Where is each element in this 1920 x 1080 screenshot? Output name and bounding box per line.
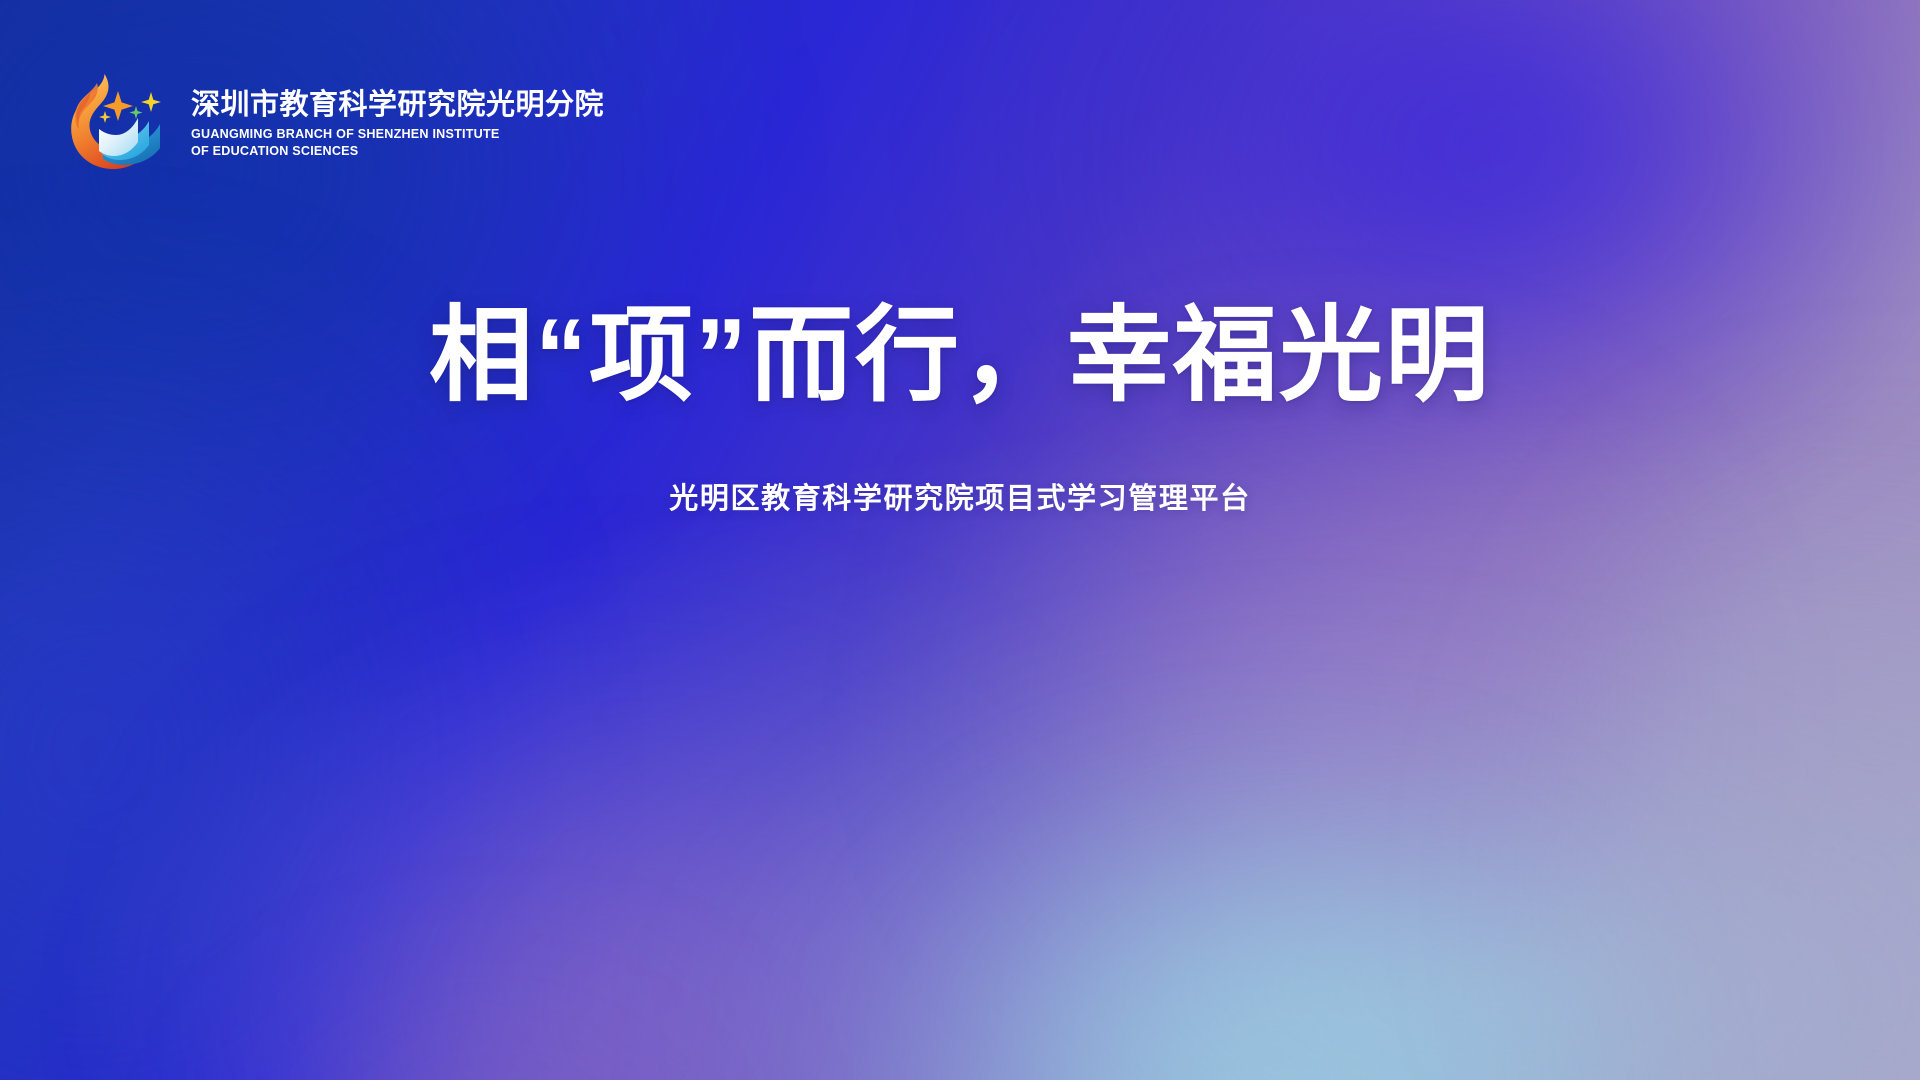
splash-screen: 深圳市教育科学研究院光明分院 GUANGMING BRANCH OF SHENZ… <box>0 0 1920 1080</box>
logo-sparkle-green-icon <box>130 106 143 119</box>
logo-sparkle-small-yellow-icon <box>99 111 111 123</box>
logo-lockup[interactable]: 深圳市教育科学研究院光明分院 GUANGMING BRANCH OF SHENZ… <box>56 66 604 178</box>
logo-org-name-en-line1: GUANGMING BRANCH OF SHENZHEN INSTITUTE <box>191 126 521 143</box>
flame-book-logo-icon <box>56 66 174 178</box>
page-subtitle: 光明区教育科学研究院项目式学习管理平台 <box>0 479 1920 520</box>
logo-org-name-en: GUANGMING BRANCH OF SHENZHEN INSTITUTE O… <box>191 126 521 159</box>
logo-org-name-en-line2: OF EDUCATION SCIENCES <box>191 143 521 160</box>
logo-org-name-cn: 深圳市教育科学研究院光明分院 <box>191 89 604 121</box>
hero-block: 相“项”而行，幸福光明 光明区教育科学研究院项目式学习管理平台 <box>0 296 1920 519</box>
logo-sparkle-yellow-icon <box>141 92 161 112</box>
page-title: 相“项”而行，幸福光明 <box>0 296 1920 417</box>
logo-text-block: 深圳市教育科学研究院光明分院 GUANGMING BRANCH OF SHENZ… <box>191 85 604 160</box>
